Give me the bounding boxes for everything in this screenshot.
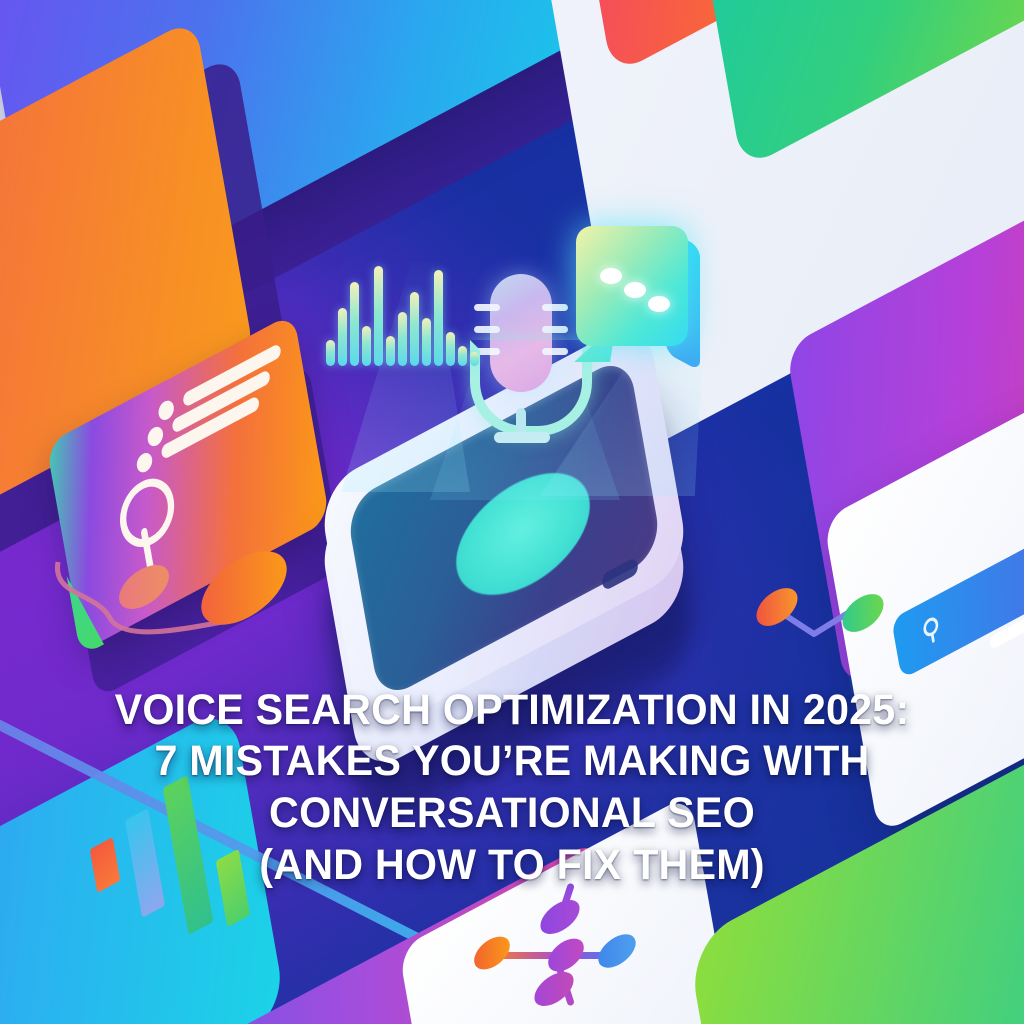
waveform-bar xyxy=(410,292,419,366)
waveform-bar xyxy=(446,332,455,366)
waveform-icon xyxy=(326,268,486,380)
typing-dot xyxy=(648,296,670,312)
network-node xyxy=(472,930,512,976)
list-bullet-dot xyxy=(135,450,153,476)
typing-dot xyxy=(624,282,646,298)
typing-dot xyxy=(600,268,622,284)
waveform-bar xyxy=(458,346,467,366)
microphone-grill-line xyxy=(542,326,568,333)
chat-bubble-icon xyxy=(570,224,720,382)
network-node xyxy=(596,928,638,975)
waveform-bar xyxy=(386,336,395,366)
network-node xyxy=(538,893,582,941)
list-bullet-dot xyxy=(157,398,175,424)
waveform-bar xyxy=(470,352,479,366)
title-line-4: (AND HOW TO FIX THEM) xyxy=(65,840,960,892)
waveform-bar xyxy=(398,312,407,366)
waveform-bar xyxy=(434,270,443,366)
waveform-bar xyxy=(326,340,335,366)
waveform-bar xyxy=(338,308,347,366)
waveform-bar xyxy=(350,282,359,366)
poster-canvas: VOICE SEARCH OPTIMIZATION IN 2025: 7 MIS… xyxy=(0,0,1024,1024)
list-bullet-dot xyxy=(146,424,164,450)
title-line-3: CONVERSATIONAL SEO xyxy=(65,788,960,840)
waveform-bar xyxy=(374,266,383,366)
waveform-bar xyxy=(422,318,431,366)
title-line-2: 7 MISTAKES YOU’RE MAKING WITH xyxy=(65,736,960,788)
waveform-bar xyxy=(362,326,371,366)
search-bar-icon xyxy=(891,497,1024,679)
network-nodes-icon xyxy=(470,900,650,1020)
title-line-1: VOICE SEARCH OPTIMIZATION IN 2025: xyxy=(65,685,960,737)
microphone-grill-line xyxy=(542,304,568,311)
page-title: VOICE SEARCH OPTIMIZATION IN 2025: 7 MIS… xyxy=(0,685,1024,891)
microphone-base xyxy=(494,432,550,443)
